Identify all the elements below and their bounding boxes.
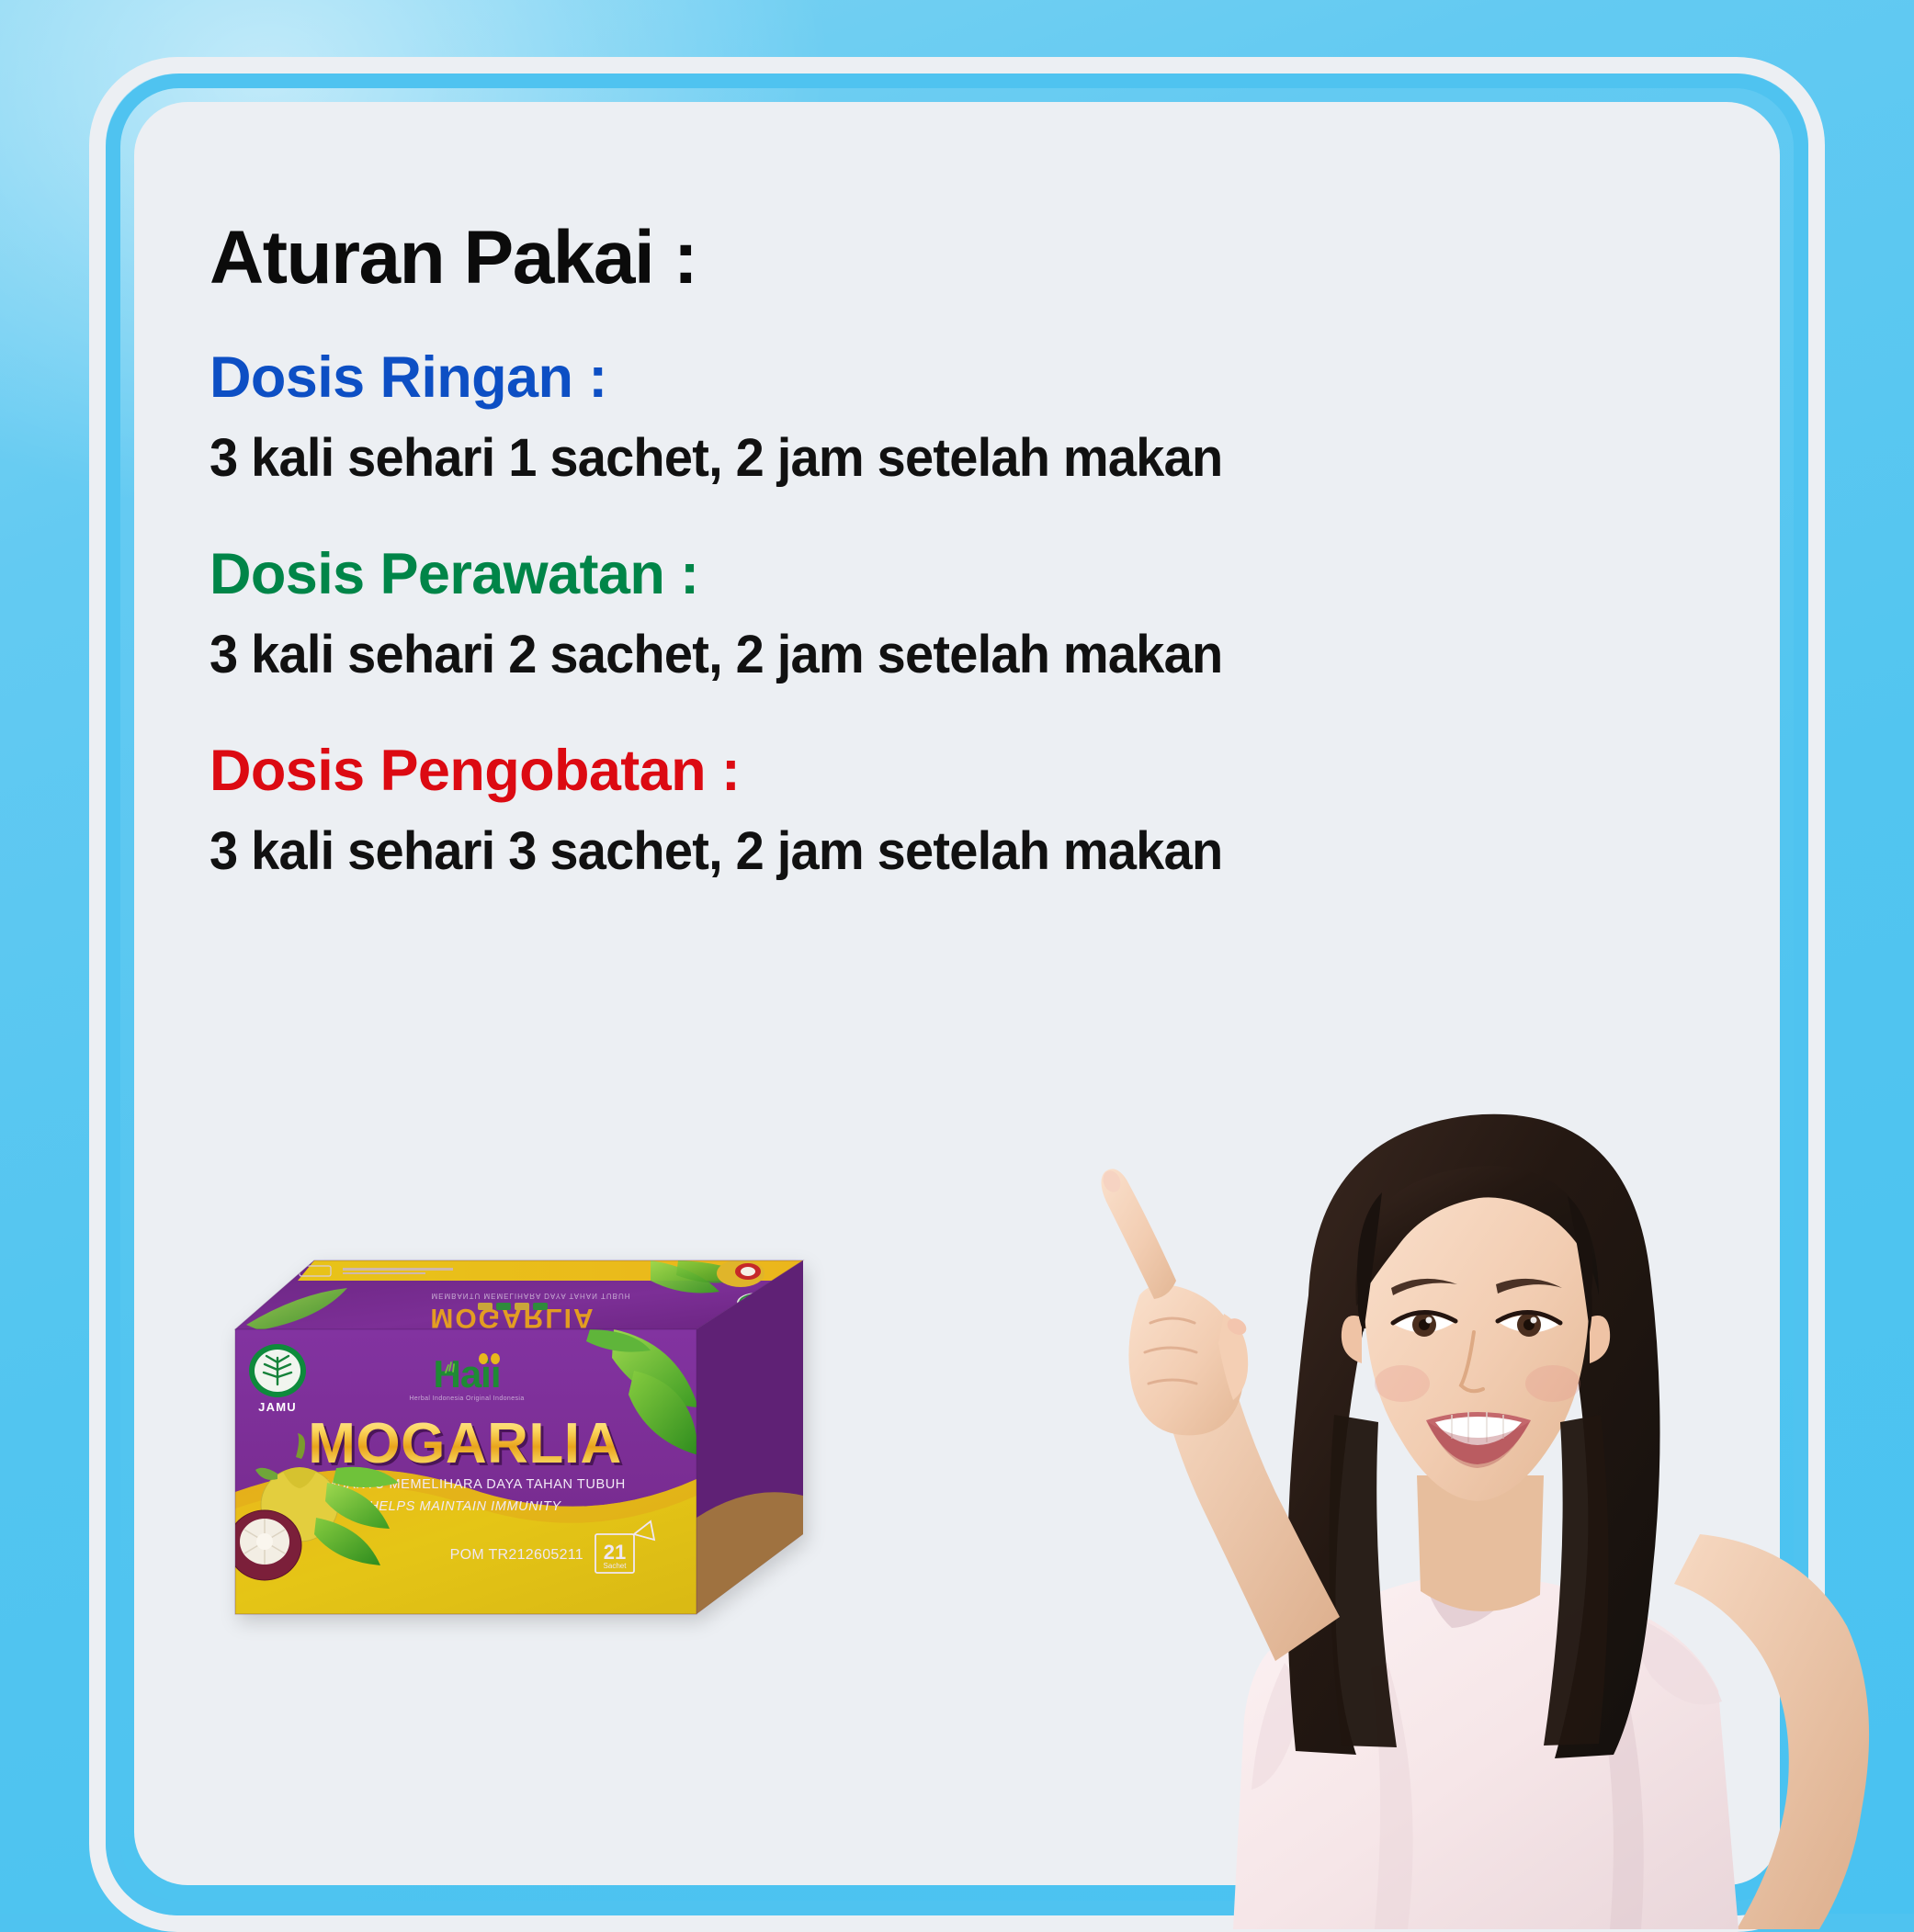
dose-group-ringan: Dosis Ringan : 3 kali sehari 1 sachet, 2… — [210, 349, 1716, 487]
svg-text:Herbal Indonesia Original Indo: Herbal Indonesia Original Indonesia — [409, 1395, 524, 1402]
sachet-count-value: 21 — [604, 1541, 626, 1564]
svg-text:Haii: Haii — [433, 1352, 500, 1395]
dose-heading-pengobatan: Dosis Pengobatan : — [210, 742, 1716, 800]
dose-body-ringan: 3 kali sehari 1 sachet, 2 jam setelah ma… — [210, 431, 1664, 487]
dose-group-perawatan: Dosis Perawatan : 3 kali sehari 2 sachet… — [210, 546, 1716, 684]
svg-text:MEMBANTU MEMELIHARA DAYA TAHAN: MEMBANTU MEMELIHARA DAYA TAHAN TUBUH — [431, 1292, 630, 1300]
product-box-front-face: JAMU Haii Herbal Indonesia Original Indo… — [228, 1329, 698, 1614]
model-photo — [992, 1020, 1914, 1929]
svg-text:MOGARLIA: MOGARLIA — [308, 1412, 622, 1475]
dose-heading-ringan: Dosis Ringan : — [210, 349, 1716, 407]
dose-group-pengobatan: Dosis Pengobatan : 3 kali sehari 3 sache… — [210, 742, 1716, 880]
dose-heading-perawatan: Dosis Perawatan : — [210, 546, 1716, 604]
dose-body-perawatan: 3 kali sehari 2 sachet, 2 jam setelah ma… — [210, 627, 1664, 684]
instructions-block: Aturan Pakai : Dosis Ringan : 3 kali seh… — [210, 220, 1716, 880]
product-box-mogarlia: MOGARLIA MEMBANTU MEMELIHARA DAYA TAHAN … — [219, 1242, 816, 1637]
svg-text:JAMU: JAMU — [258, 1400, 297, 1414]
sachet-count-label: Sachet — [604, 1562, 628, 1570]
product-tagline-en: HELPS MAINTAIN IMMUNITY — [368, 1499, 561, 1514]
page-title: Aturan Pakai : — [210, 220, 1716, 296]
product-registration-number: POM TR212605211 — [450, 1547, 583, 1563]
svg-text:MOGARLIA: MOGARLIA — [430, 1303, 595, 1333]
dose-body-pengobatan: 3 kali sehari 3 sachet, 2 jam setelah ma… — [210, 824, 1664, 880]
